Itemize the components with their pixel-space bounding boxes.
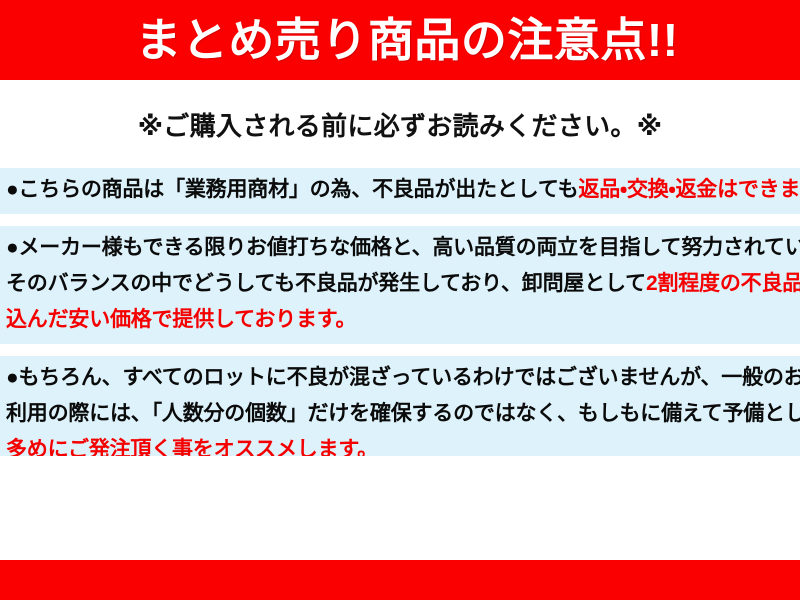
header-bar: まとめ売り商品の注意点!! [0, 0, 800, 80]
notice-line: ●こちらの商品は「業務用商材」の為、不良品が出たとしても返品・交換・返金はできま… [6, 172, 794, 208]
notice-line: ●もちろん、すべてのロットに不良が混ざっているわけではございませんが、一般のお客… [6, 360, 794, 396]
notice-text: 利用の際には、「人数分の個数」だけを確保するのではなく、もしもに備えて予備として [6, 402, 800, 425]
bullet-icon: ● [6, 366, 18, 389]
notice-line: 込んだ安い価格で提供しております。 [6, 302, 794, 338]
notice-text: もちろん、すべてのロットに不良が混ざっているわけではございませんが、一般のお客様… [18, 366, 800, 389]
notice-line: そのバランスの中でどうしても不良品が発生しており、卸問屋として2割程度の不良品を… [6, 266, 794, 302]
emphasis-text: 込んだ安い価格で提供しております。 [6, 308, 356, 331]
emphasis-text: 2割程度の不良品を織り [646, 272, 800, 295]
page-title: まとめ売り商品の注意点!! [121, 17, 678, 63]
footer-bar [0, 560, 800, 600]
notice-text: そのバランスの中でどうしても不良品が発生しており、卸問屋として [6, 272, 646, 295]
subtitle-text: ※ご購入される前に必ずお読みください。※ [138, 106, 663, 143]
notice-text: こちらの商品は「業務用商材」の為、不良品が出たとしても [18, 178, 578, 201]
notice-line: ●メーカー様もできる限りお値打ちな価格と、高い品質の両立を目指して努力されていま… [6, 230, 794, 266]
notice-banner: まとめ売り商品の注意点!! ※ご購入される前に必ずお読みください。※ ●こちらの… [0, 0, 800, 600]
notice-block: ●メーカー様もできる限りお値打ちな価格と、高い品質の両立を目指して努力されていま… [0, 226, 800, 344]
notice-line: 利用の際には、「人数分の個数」だけを確保するのではなく、もしもに備えて予備として… [6, 396, 794, 432]
subtitle-area: ※ご購入される前に必ずお読みください。※ [0, 80, 800, 168]
bullet-icon: ● [6, 236, 18, 259]
bottom-whitespace [0, 456, 800, 560]
notice-text: メーカー様もできる限りお値打ちな価格と、高い品質の両立を目指して努力されています… [18, 236, 800, 259]
emphasis-text: 返品・交換・返金はできません [578, 178, 800, 201]
notice-blocks: ●こちらの商品は「業務用商材」の為、不良品が出たとしても返品・交換・返金はできま… [0, 168, 800, 486]
notice-block: ●こちらの商品は「業務用商材」の為、不良品が出たとしても返品・交換・返金はできま… [0, 168, 800, 214]
bullet-icon: ● [6, 178, 18, 201]
